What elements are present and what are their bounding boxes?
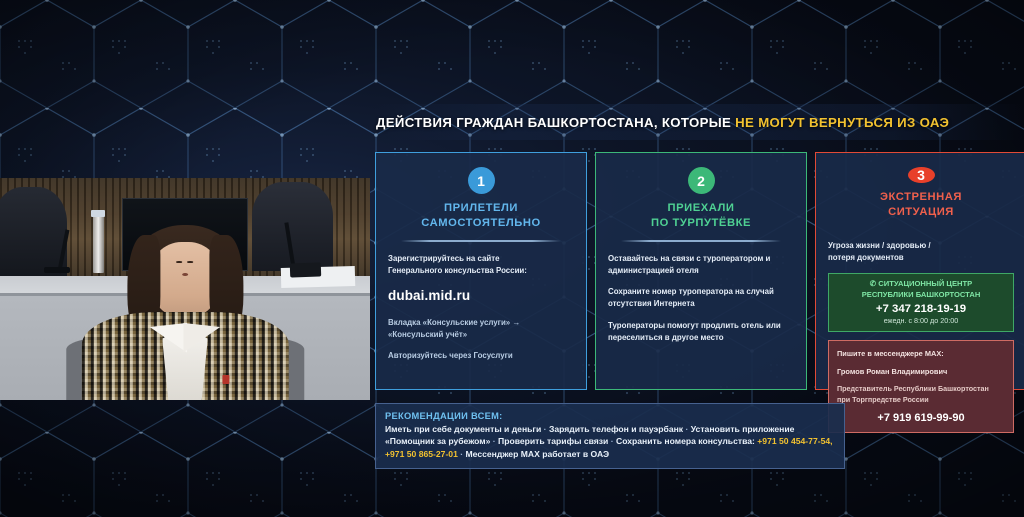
card-divider bbox=[401, 240, 561, 242]
mouth bbox=[182, 273, 189, 276]
headline-accent: НЕ МОГУТ ВЕРНУТЬСЯ ИЗ ОАЭ bbox=[735, 115, 949, 130]
representative-phone[interactable]: +7 919 619-99-90 bbox=[837, 412, 1005, 424]
info-panel: ДЕЙСТВИЯ ГРАЖДАН БАШКОРТОСТАНА, КОТОРЫЕ … bbox=[358, 88, 1024, 482]
card-divider bbox=[621, 240, 781, 242]
card-note-tab: Вкладка «Консульские услуги» → «Консульс… bbox=[388, 317, 574, 342]
rec-sep: · bbox=[541, 424, 549, 434]
note-line1: Вкладка «Консульские услуги» → bbox=[388, 318, 520, 327]
situation-center-line2: РЕСПУБЛИКИ БАШКОРТОСТАН bbox=[862, 290, 981, 299]
note-line2: «Консульский учёт» bbox=[388, 330, 467, 339]
situation-center-phone[interactable]: +7 347 218-19-19 bbox=[835, 303, 1007, 315]
emergency-lead-line2: потеря документов bbox=[828, 253, 904, 262]
card-instruction: Зарегистрируйтесь на сайте Генерального … bbox=[388, 253, 574, 278]
rec-sep: · bbox=[608, 436, 616, 446]
recommendations-text: Иметь при себе документы и деньги · Заря… bbox=[385, 423, 835, 460]
rec-sep: · bbox=[458, 449, 466, 459]
rec-seg-5: Сохранить номера консульства: bbox=[616, 436, 757, 446]
headline-prefix: ДЕЙСТВИЯ ГРАЖДАН БАШКОРТОСТАНА, КОТОРЫЕ bbox=[376, 115, 735, 130]
max-messenger-header: Пишите в мессенджере MAX: bbox=[837, 348, 1005, 359]
role-line1: Представитель Республики Башкортостан bbox=[837, 384, 989, 393]
card-body: Зарегистрируйтесь на сайте Генерального … bbox=[388, 253, 574, 363]
card-arrived-independently: 1 ПРИЛЕТЕЛИ САМОСТОЯТЕЛЬНО Зарегистрируй… bbox=[375, 152, 587, 390]
page-title: ДЕЙСТВИЯ ГРАЖДАН БАШКОРТОСТАНА, КОТОРЫЕ … bbox=[376, 115, 949, 130]
instruction-line1: Зарегистрируйтесь на сайте bbox=[388, 254, 499, 263]
emergency-lead: Угроза жизни / здоровью / потеря докумен… bbox=[828, 240, 1014, 265]
rec-seg-6: Мессенджер MAX работает в ОАЭ bbox=[466, 449, 610, 459]
cards-container: 1 ПРИЛЕТЕЛИ САМОСТОЯТЕЛЬНО Зарегистрируй… bbox=[375, 152, 1024, 390]
rec-seg-4: Проверить тарифы связи bbox=[498, 436, 608, 446]
bottle-cap bbox=[91, 210, 105, 217]
card-title-line1: ЭКСТРЕННАЯ bbox=[880, 190, 962, 205]
representative-role: Представитель Республики Башкортостан пр… bbox=[837, 384, 1005, 406]
card-note-auth: Авторизуйтесь через Госуслуги bbox=[388, 350, 574, 362]
background-person-left bbox=[0, 187, 67, 276]
card-title-line1: ПРИЕХАЛИ bbox=[651, 201, 751, 216]
lapel-pin bbox=[222, 375, 229, 384]
live-video-feed bbox=[0, 178, 370, 400]
card-title: ПРИЕХАЛИ ПО ТУРПУТЁВКЕ bbox=[651, 201, 751, 231]
rec-seg-1: Иметь при себе документы и деньги bbox=[385, 424, 541, 434]
representative-name: Громов Роман Владимирович bbox=[837, 366, 1005, 377]
card-number-badge: 1 bbox=[468, 167, 495, 194]
recommendations-title: РЕКОМЕНДАЦИИ ВСЕМ: bbox=[385, 411, 835, 421]
rec-seg-2: Зарядить телефон и пауэрбанк bbox=[549, 424, 683, 434]
card-number-badge: 3 bbox=[908, 167, 935, 183]
situation-center-box[interactable]: ✆ СИТУАЦИОННЫЙ ЦЕНТР РЕСПУБЛИКИ БАШКОРТО… bbox=[828, 273, 1014, 332]
card-body: Угроза жизни / здоровью / потеря докумен… bbox=[828, 240, 1014, 265]
card-title-line2: СИТУАЦИЯ bbox=[880, 205, 962, 220]
eye-left bbox=[176, 261, 182, 263]
recommendations-banner: РЕКОМЕНДАЦИИ ВСЕМ: Иметь при себе докуме… bbox=[375, 403, 845, 469]
emergency-lead-line1: Угроза жизни / здоровью / bbox=[828, 241, 931, 250]
tour-item: Сохраните номер туроператора на случай о… bbox=[608, 286, 794, 311]
tour-item: Оставайтесь на связи с туроператором и а… bbox=[608, 253, 794, 278]
card-body: Оставайтесь на связи с туроператором и а… bbox=[608, 253, 794, 345]
card-title: ПРИЛЕТЕЛИ САМОСТОЯТЕЛЬНО bbox=[421, 201, 541, 231]
situation-center-line1: СИТУАЦИОННЫЙ ЦЕНТР bbox=[878, 279, 972, 288]
situation-center-hours: ежедн. с 8:00 до 20:00 bbox=[835, 316, 1007, 325]
eye-right bbox=[187, 261, 193, 263]
tablet-device bbox=[290, 263, 322, 279]
max-messenger-box[interactable]: Пишите в мессенджере MAX: Громов Роман В… bbox=[828, 340, 1014, 434]
card-package-tour: 2 ПРИЕХАЛИ ПО ТУРПУТЁВКЕ Оставайтесь на … bbox=[595, 152, 807, 390]
tour-item: Туроператоры помогут продлить отель или … bbox=[608, 320, 794, 345]
card-title: ЭКСТРЕННАЯ СИТУАЦИЯ bbox=[880, 190, 962, 220]
phone-icon: ✆ bbox=[870, 279, 876, 288]
situation-center-title: ✆ СИТУАЦИОННЫЙ ЦЕНТР РЕСПУБЛИКИ БАШКОРТО… bbox=[835, 279, 1007, 301]
microphone-base-left bbox=[44, 267, 70, 273]
rec-sep: · bbox=[490, 436, 498, 446]
headline-bar: ДЕЙСТВИЯ ГРАЖДАН БАШКОРТОСТАНА, КОТОРЫЕ … bbox=[376, 104, 1024, 140]
role-line2: при Торгпредстве России bbox=[837, 395, 929, 404]
card-title-line2: ПО ТУРПУТЁВКЕ bbox=[651, 216, 751, 231]
speaker-person bbox=[81, 225, 288, 400]
card-title-line2: САМОСТОЯТЕЛЬНО bbox=[421, 216, 541, 231]
card-title-line1: ПРИЛЕТЕЛИ bbox=[421, 201, 541, 216]
consulate-website-url[interactable]: dubai.mid.ru bbox=[388, 286, 574, 307]
card-number-badge: 2 bbox=[688, 167, 715, 194]
card-emergency: 3 ЭКСТРЕННАЯ СИТУАЦИЯ Угроза жизни / здо… bbox=[815, 152, 1024, 390]
rec-sep: · bbox=[683, 424, 691, 434]
instruction-line2: Генерального консульства России: bbox=[388, 266, 527, 275]
